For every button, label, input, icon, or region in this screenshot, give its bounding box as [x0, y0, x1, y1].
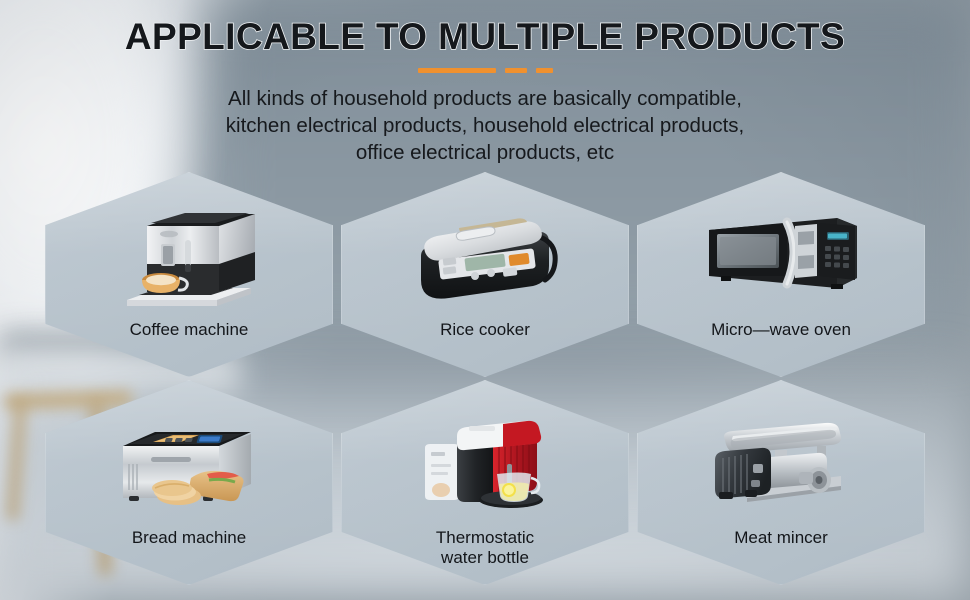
product-cell-meat-mincer[interactable]: Meat mincer	[637, 380, 925, 585]
subtitle-line-3: office electrical products, etc	[135, 139, 835, 166]
product-label: Bread machine	[132, 528, 246, 548]
bread-machine-icon	[99, 404, 279, 522]
title-divider	[410, 68, 560, 73]
subtitle: All kinds of household products are basi…	[135, 85, 835, 166]
product-label: Coffee machine	[130, 320, 249, 340]
page-title: APPLICABLE TO MULTIPLE PRODUCTS	[0, 0, 970, 58]
product-cell-micro-wave-oven[interactable]: Micro—wave oven	[637, 172, 925, 377]
header: APPLICABLE TO MULTIPLE PRODUCTS All kind…	[0, 0, 970, 166]
product-cell-thermostatic-water-bottle[interactable]: Thermostatic water bottle	[341, 380, 629, 585]
coffee-machine-icon	[99, 196, 279, 314]
microwave-oven-icon	[691, 196, 871, 314]
divider-segment-short	[536, 68, 553, 73]
product-cell-bread-machine[interactable]: Bread machine	[45, 380, 333, 585]
rice-cooker-icon	[395, 196, 575, 314]
product-cell-coffee-machine[interactable]: Coffee machine	[45, 172, 333, 377]
subtitle-line-2: kitchen electrical products, household e…	[135, 112, 835, 139]
divider-segment-medium	[505, 68, 527, 73]
subtitle-line-1: All kinds of household products are basi…	[135, 85, 835, 112]
divider-segment-long	[418, 68, 496, 73]
product-compatibility-banner: APPLICABLE TO MULTIPLE PRODUCTS All kind…	[0, 0, 970, 600]
product-label: Meat mincer	[734, 528, 828, 548]
product-label: Micro—wave oven	[711, 320, 851, 340]
product-row-2: Bread machine	[0, 380, 970, 585]
product-label: Thermostatic water bottle	[436, 528, 534, 568]
meat-mincer-icon	[691, 404, 871, 522]
product-cell-rice-cooker[interactable]: Rice cooker	[341, 172, 629, 377]
product-hex-grid: Coffee machine	[0, 172, 970, 592]
product-row-1: Coffee machine	[0, 172, 970, 377]
water-dispenser-icon	[395, 404, 575, 522]
product-label: Rice cooker	[440, 320, 530, 340]
